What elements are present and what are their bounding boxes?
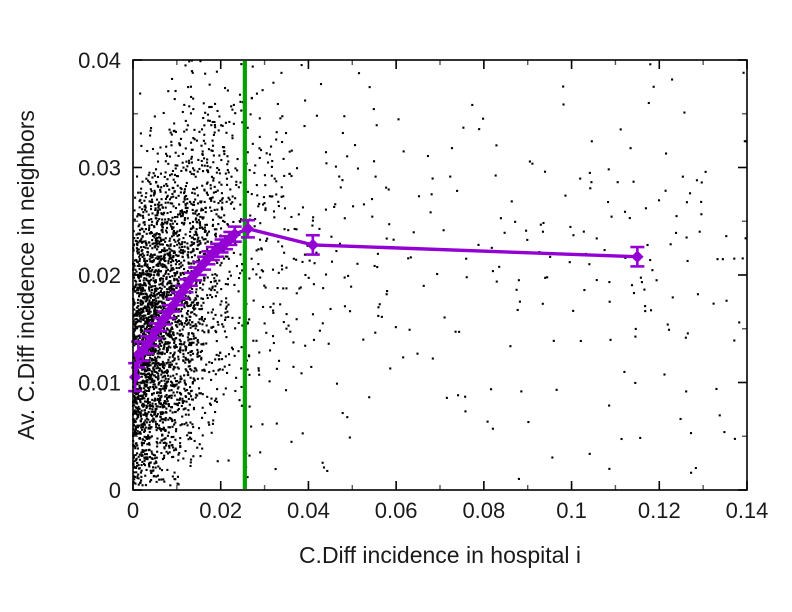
scatter-point	[172, 411, 174, 413]
scatter-point	[151, 176, 153, 178]
scatter-point	[216, 291, 218, 293]
y-axis-title: Av. C.Diff incidence in neighbors	[13, 110, 39, 440]
scatter-point	[134, 326, 136, 328]
scatter-point	[196, 344, 198, 346]
scatter-point	[234, 167, 236, 169]
scatter-point	[725, 235, 727, 237]
scatter-point	[145, 300, 147, 302]
scatter-point	[260, 247, 262, 249]
scatter-point	[457, 394, 459, 396]
scatter-point	[262, 203, 264, 205]
scatter-point	[171, 193, 173, 195]
scatter-point	[145, 393, 147, 395]
scatter-point	[203, 124, 205, 126]
scatter-point	[644, 305, 646, 307]
scatter-point	[257, 248, 259, 250]
scatter-point	[195, 368, 197, 370]
scatter-point	[183, 408, 185, 410]
scatter-point	[141, 464, 143, 466]
scatter-point	[153, 192, 155, 194]
scatter-point	[134, 396, 136, 398]
scatter-point	[700, 201, 702, 203]
scatter-point	[608, 404, 610, 406]
scatter-point	[648, 102, 650, 104]
scatter-point	[154, 454, 156, 456]
scatter-point	[143, 255, 145, 257]
scatter-point	[385, 187, 387, 189]
scatter-point	[156, 391, 158, 393]
scatter-point	[145, 196, 147, 198]
scatter-point	[218, 280, 220, 282]
scatter-point	[649, 63, 651, 65]
scatter-point	[149, 284, 151, 286]
scatter-point	[492, 270, 494, 272]
scatter-point	[170, 144, 172, 146]
scatter-point	[204, 142, 206, 144]
scatter-point	[201, 128, 203, 130]
scatter-point	[139, 280, 141, 282]
scatter-point	[225, 297, 227, 299]
scatter-point	[170, 330, 172, 332]
scatter-point	[137, 237, 139, 239]
scatter-point	[134, 265, 136, 267]
scatter-point	[170, 132, 172, 134]
scatter-point	[170, 202, 172, 204]
scatter-point	[214, 186, 216, 188]
scatter-point	[179, 445, 181, 447]
scatter-point	[239, 204, 241, 206]
scatter-point	[163, 380, 165, 382]
scatter-point	[193, 250, 195, 252]
scatter-point	[136, 445, 138, 447]
scatter-point	[141, 325, 143, 327]
scatter-point	[148, 309, 150, 311]
scatter-point	[192, 209, 194, 211]
scatter-point	[186, 319, 188, 321]
scatter-point	[193, 338, 195, 340]
scatter-point	[734, 438, 736, 440]
scatter-point	[193, 335, 195, 337]
scatter-point	[193, 204, 195, 206]
scatter-point	[173, 366, 175, 368]
scatter-point	[179, 381, 181, 383]
scatter-point	[190, 338, 192, 340]
scatter-point	[176, 165, 178, 167]
scatter-point	[254, 164, 256, 166]
scatter-point	[136, 311, 138, 313]
scatter-point	[156, 303, 158, 305]
scatter-point	[347, 275, 349, 277]
scatter-point	[633, 181, 635, 183]
scatter-point	[167, 269, 169, 271]
scatter-point	[695, 467, 697, 469]
scatter-point	[377, 315, 379, 317]
scatter-point	[218, 129, 220, 131]
scatter-point	[285, 132, 287, 134]
scatter-point	[608, 281, 610, 283]
scatter-point	[183, 388, 185, 390]
scatter-point	[156, 199, 158, 201]
scatter-point	[185, 348, 187, 350]
scatter-point	[151, 190, 153, 192]
scatter-point	[163, 307, 165, 309]
scatter-point	[185, 195, 187, 197]
scatter-point	[168, 447, 170, 449]
scatter-point	[181, 322, 183, 324]
scatter-point	[192, 225, 194, 227]
scatter-point	[135, 259, 137, 261]
scatter-point	[263, 196, 265, 198]
scatter-point	[134, 400, 136, 402]
scatter-point	[161, 413, 163, 415]
scatter-point	[136, 475, 138, 477]
scatter-point	[189, 386, 191, 388]
scatter-point	[143, 403, 145, 405]
scatter-point	[156, 248, 158, 250]
scatter-point	[322, 462, 324, 464]
scatter-point	[160, 416, 162, 418]
scatter-point	[169, 366, 171, 368]
scatter-point	[335, 166, 337, 168]
scatter-point	[174, 377, 176, 379]
scatter-point	[182, 359, 184, 361]
scatter-point	[154, 209, 156, 211]
scatter-point	[167, 400, 169, 402]
scatter-point	[142, 269, 144, 271]
scatter-point	[139, 260, 141, 262]
scatter-point	[155, 467, 157, 469]
scatter-point	[262, 306, 264, 308]
scatter-point	[142, 297, 144, 299]
scatter-point	[223, 393, 225, 395]
scatter-point	[157, 373, 159, 375]
scatter-point	[272, 82, 274, 84]
scatter-point	[271, 160, 273, 162]
scatter-point	[173, 278, 175, 280]
scatter-point	[192, 353, 194, 355]
scatter-point	[179, 323, 181, 325]
scatter-point	[192, 325, 194, 327]
scatter-point	[136, 402, 138, 404]
scatter-point	[165, 408, 167, 410]
scatter-point	[201, 164, 203, 166]
scatter-point	[206, 192, 208, 194]
scatter-point	[172, 170, 174, 172]
scatter-point	[216, 110, 218, 112]
scatter-point	[363, 203, 365, 205]
scatter-point	[145, 427, 147, 429]
scatter-point	[178, 195, 180, 197]
scatter-point	[172, 255, 174, 257]
scatter-point	[165, 412, 167, 414]
scatter-point	[153, 293, 155, 295]
scatter-point	[212, 145, 214, 147]
scatter-point	[154, 374, 156, 376]
scatter-point	[202, 170, 204, 172]
scatter-point	[172, 187, 174, 189]
scatter-point	[155, 367, 157, 369]
scatter-point	[178, 203, 180, 205]
scatter-point	[247, 191, 249, 193]
scatter-point	[147, 376, 149, 378]
scatter-point	[220, 288, 222, 290]
scatter-point	[190, 112, 192, 114]
scatter-point	[146, 453, 148, 455]
scatter-point	[143, 373, 145, 375]
scatter-point	[551, 456, 553, 458]
x-tick-label: 0.06	[375, 498, 418, 523]
scatter-point	[185, 185, 187, 187]
scatter-point	[196, 234, 198, 236]
scatter-point	[160, 439, 162, 441]
scatter-point	[185, 120, 187, 122]
scatter-point	[203, 279, 205, 281]
scatter-point	[149, 245, 151, 247]
scatter-point	[226, 201, 228, 203]
scatter-point	[141, 195, 143, 197]
scatter-point	[166, 155, 168, 157]
scatter-point	[191, 288, 193, 290]
scatter-point	[167, 262, 169, 264]
scatter-point	[141, 429, 143, 431]
scatter-point	[743, 72, 745, 74]
scatter-point	[157, 185, 159, 187]
scatter-point	[164, 257, 166, 259]
scatter-point	[150, 130, 152, 132]
scatter-point	[526, 239, 528, 241]
scatter-point	[165, 153, 167, 155]
scatter-point	[207, 194, 209, 196]
scatter-point	[180, 375, 182, 377]
scatter-point	[275, 180, 277, 182]
scatter-point	[159, 189, 161, 191]
scatter-point	[237, 158, 239, 160]
scatter-point	[203, 320, 205, 322]
scatter-point	[187, 296, 189, 298]
scatter-point	[611, 216, 613, 218]
scatter-point	[138, 320, 140, 322]
scatter-point	[164, 364, 166, 366]
scatter-point	[156, 352, 158, 354]
scatter-point	[388, 223, 390, 225]
scatter-point	[201, 448, 203, 450]
scatter-point	[139, 313, 141, 315]
scatter-point	[500, 217, 502, 219]
scatter-point	[148, 174, 150, 176]
scatter-point	[290, 216, 292, 218]
scatter-point	[162, 458, 164, 460]
scatter-point	[609, 301, 611, 303]
scatter-point	[168, 291, 170, 293]
scatter-point	[234, 327, 236, 329]
scatter-point	[172, 332, 174, 334]
scatter-point	[202, 238, 204, 240]
scatter-point	[231, 317, 233, 319]
scatter-point	[310, 366, 312, 368]
scatter-point	[159, 368, 161, 370]
scatter-point	[338, 175, 340, 177]
scatter-point	[186, 165, 188, 167]
scatter-point	[259, 117, 261, 119]
scatter-point	[350, 286, 352, 288]
scatter-point	[142, 439, 144, 441]
scatter-point	[218, 155, 220, 157]
scatter-point	[197, 239, 199, 241]
scatter-point	[221, 358, 223, 360]
scatter-point	[210, 187, 212, 189]
scatter-point	[147, 251, 149, 253]
scatter-point	[163, 427, 165, 429]
scatter-point	[251, 97, 253, 99]
scatter-point	[140, 476, 142, 478]
scatter-point	[212, 121, 214, 123]
scatter-point	[157, 350, 159, 352]
scatter-point	[148, 306, 150, 308]
scatter-point	[139, 206, 141, 208]
scatter-point	[204, 277, 206, 279]
scatter-point	[371, 198, 373, 200]
scatter-point	[151, 221, 153, 223]
scatter-point	[258, 351, 260, 353]
scatter-point	[216, 401, 218, 403]
scatter-point	[157, 405, 159, 407]
scatter-point	[195, 327, 197, 329]
scatter-point	[196, 221, 198, 223]
scatter-point	[259, 136, 261, 138]
scatter-point	[455, 331, 457, 333]
scatter-point	[176, 373, 178, 375]
scatter-point	[272, 312, 274, 314]
scatter-point	[186, 182, 188, 184]
scatter-point	[187, 256, 189, 258]
scatter-point	[252, 66, 254, 68]
scatter-point	[162, 243, 164, 245]
scatter-point	[196, 447, 198, 449]
scatter-point	[168, 294, 170, 296]
scatter-point	[157, 263, 159, 265]
scatter-point	[153, 271, 155, 273]
scatter-point	[154, 190, 156, 192]
scatter-point	[200, 145, 202, 147]
scatter-point	[200, 305, 202, 307]
scatter-point	[258, 203, 260, 205]
scatter-point	[155, 362, 157, 364]
scatter-point	[191, 423, 193, 425]
scatter-point	[231, 201, 233, 203]
scatter-point	[335, 250, 337, 252]
scatter-point	[271, 175, 273, 177]
scatter-point	[226, 178, 228, 180]
scatter-point	[153, 418, 155, 420]
scatter-point	[183, 356, 185, 358]
scatter-point	[241, 346, 243, 348]
scatter-point	[281, 196, 283, 198]
scatter-point	[170, 264, 172, 266]
scatter-point	[175, 287, 177, 289]
scatter-point	[186, 312, 188, 314]
scatter-point	[464, 410, 466, 412]
scatter-point	[175, 197, 177, 199]
scatter-point	[680, 418, 682, 420]
scatter-point	[267, 161, 269, 163]
scatter-point	[167, 380, 169, 382]
scatter-point	[170, 261, 172, 263]
scatter-point	[142, 380, 144, 382]
scatter-point	[192, 98, 194, 100]
scatter-point	[211, 274, 213, 276]
scatter-point	[272, 310, 274, 312]
scatter-point	[170, 283, 172, 285]
scatter-point	[144, 464, 146, 466]
scatter-point	[283, 228, 285, 230]
scatter-point	[169, 174, 171, 176]
scatter-point	[218, 115, 220, 117]
scatter-point	[178, 267, 180, 269]
scatter-point	[166, 469, 168, 471]
scatter-point	[195, 298, 197, 300]
scatter-point	[141, 202, 143, 204]
scatter-point	[178, 247, 180, 249]
scatter-point	[151, 403, 153, 405]
scatter-point	[187, 409, 189, 411]
scatter-point	[195, 369, 197, 371]
scatter-point	[203, 253, 205, 255]
scatter-point	[142, 315, 144, 317]
scatter-point	[298, 213, 300, 215]
scatter-point	[690, 432, 692, 434]
scatter-point	[645, 207, 647, 209]
scatter-point	[187, 305, 189, 307]
scatter-point	[222, 326, 224, 328]
scatter-point	[208, 148, 210, 150]
scatter-point	[134, 466, 136, 468]
scatter-point	[542, 222, 544, 224]
scatter-point	[214, 124, 216, 126]
scatter-point	[346, 155, 348, 157]
scatter-point	[176, 223, 178, 225]
scatter-point	[212, 370, 214, 372]
scatter-point	[283, 252, 285, 254]
scatter-point	[226, 306, 228, 308]
scatter-point	[308, 277, 310, 279]
scatter-point	[142, 181, 144, 183]
scatter-point	[201, 417, 203, 419]
scatter-point	[193, 169, 195, 171]
scatter-point	[211, 296, 213, 298]
scatter-point	[165, 171, 167, 173]
scatter-point	[144, 273, 146, 275]
scatter-point	[185, 359, 187, 361]
scatter-point	[490, 388, 492, 390]
scatter-point	[141, 404, 143, 406]
scatter-point	[165, 378, 167, 380]
scatter-point	[277, 241, 279, 243]
scatter-point	[155, 257, 157, 259]
scatter-point	[180, 349, 182, 351]
scatter-point	[167, 202, 169, 204]
scatter-point	[139, 199, 141, 201]
scatter-point	[156, 445, 158, 447]
scatter-point	[190, 459, 192, 461]
scatter-point	[247, 322, 249, 324]
scatter-point	[675, 215, 677, 217]
scatter-point	[423, 285, 425, 287]
scatter-point	[152, 295, 154, 297]
scatter-point	[179, 437, 181, 439]
scatter-point	[145, 384, 147, 386]
scatter-point	[155, 298, 157, 300]
scatter-point	[224, 87, 226, 89]
